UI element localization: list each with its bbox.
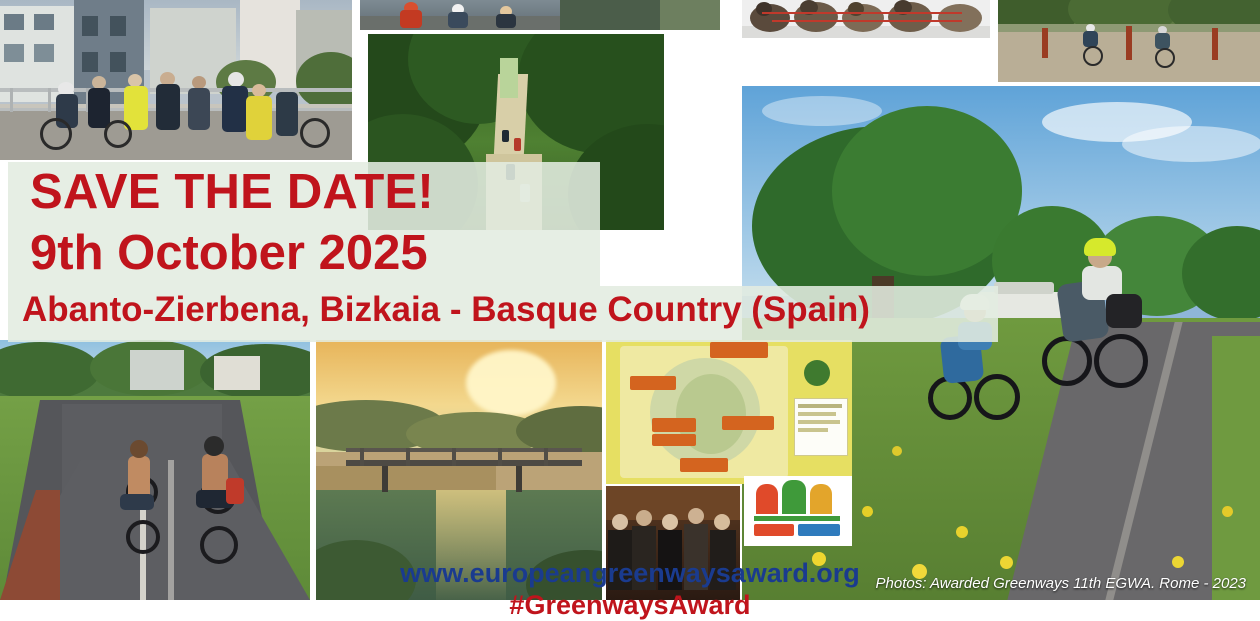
poster-canvas: SAVE THE DATE! 9th October 2025 Abanto-Z… (0, 0, 1260, 600)
crowd-on-bridge-photo (0, 0, 352, 160)
cyclists-gravel-path-photo (998, 0, 1260, 82)
sled-dogs-photo (742, 0, 990, 38)
photo-credit-text: Photos: Awarded Greenways 11th EGWA. Rom… (876, 575, 1246, 592)
event-date-text: 9th October 2025 (30, 229, 428, 278)
event-location-text: Abanto-Zierbena, Bizkaia - Basque Countr… (22, 292, 870, 327)
hashtag-text: #GreenwaysAward (0, 590, 1260, 621)
greenways-map-poster-photo (606, 340, 852, 484)
greenways-anniversary-logo (744, 476, 852, 546)
headline-text: SAVE THE DATE! (30, 168, 434, 217)
cyclists-bridge-strip-photo (360, 0, 720, 30)
